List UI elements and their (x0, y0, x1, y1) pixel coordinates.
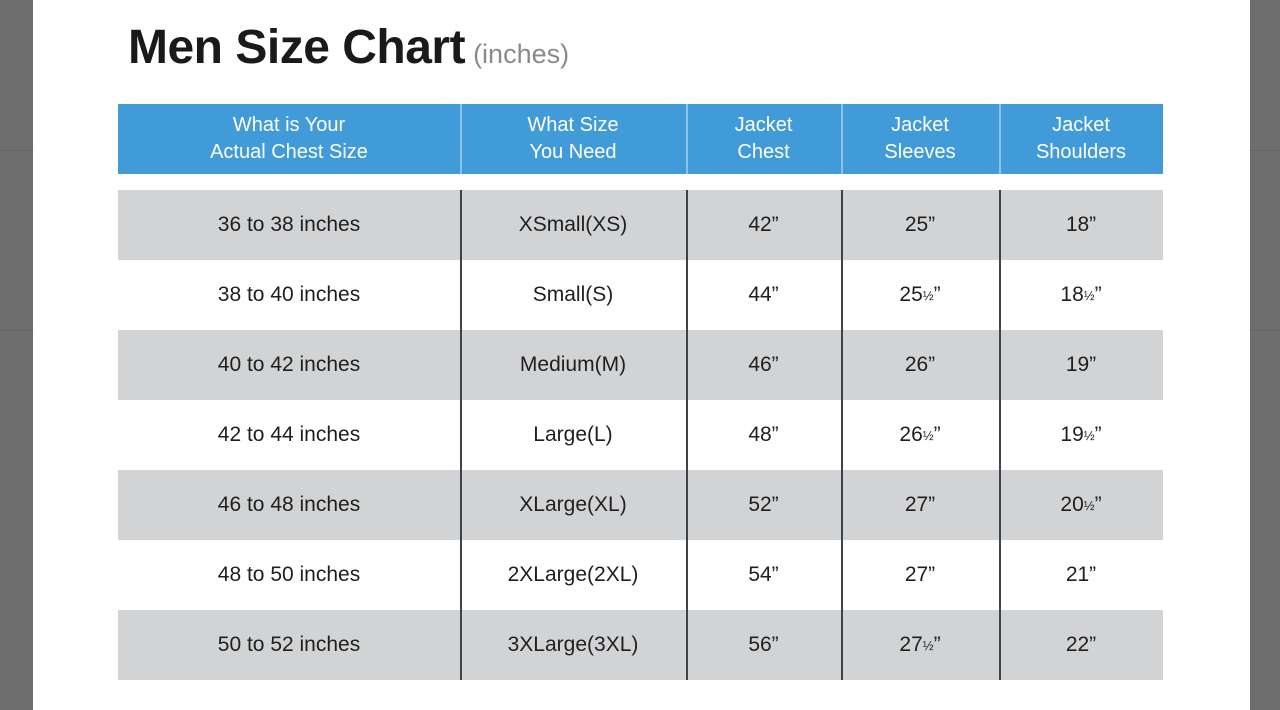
table-row: 36 to 38 inches XSmall(XS) 42” 25” 18” (118, 190, 1163, 260)
letterbox-seam (0, 150, 33, 151)
cell-jacket-chest: 48” (686, 400, 841, 470)
column-header-actual-chest: What is Your Actual Chest Size (118, 104, 460, 174)
table-row: 46 to 48 inches XLarge(XL) 52” 27” 20½” (118, 470, 1163, 540)
cell-size-needed: XSmall(XS) (460, 190, 686, 260)
cell-jacket-sleeves: 27” (841, 540, 999, 610)
cell-size-needed: XLarge(XL) (460, 470, 686, 540)
cell-actual-chest: 40 to 42 inches (118, 330, 460, 400)
page-title-main: Men Size Chart (128, 21, 465, 74)
cell-jacket-chest: 56” (686, 610, 841, 680)
letterbox-seam (0, 330, 33, 331)
cell-actual-chest: 50 to 52 inches (118, 610, 460, 680)
cell-jacket-chest: 44” (686, 260, 841, 330)
cell-jacket-shoulders: 18½” (999, 260, 1163, 330)
slide-stage: Men Size Chart(inches) What is Your Actu… (0, 0, 1280, 710)
letterbox-bar-right (1250, 0, 1280, 710)
column-header-line-1: Jacket (891, 112, 949, 139)
column-header-size-needed: What Size You Need (460, 104, 686, 174)
cell-actual-chest: 36 to 38 inches (118, 190, 460, 260)
column-header-line-1: Jacket (735, 112, 793, 139)
cell-jacket-sleeves: 26” (841, 330, 999, 400)
table-header-row: What is Your Actual Chest Size What Size… (118, 104, 1163, 174)
table-row: 50 to 52 inches 3XLarge(3XL) 56” 27½” 22… (118, 610, 1163, 680)
column-header-line-1: What Size (527, 112, 618, 139)
cell-jacket-chest: 52” (686, 470, 841, 540)
column-header-line-1: What is Your (233, 112, 345, 139)
cell-size-needed: 2XLarge(2XL) (460, 540, 686, 610)
cell-jacket-sleeves: 27½” (841, 610, 999, 680)
cell-jacket-shoulders: 22” (999, 610, 1163, 680)
slide-canvas: Men Size Chart(inches) What is Your Actu… (33, 0, 1250, 710)
letterbox-seam (1250, 330, 1280, 331)
cell-size-needed: Medium(M) (460, 330, 686, 400)
cell-jacket-chest: 46” (686, 330, 841, 400)
column-header-line-2: You Need (529, 139, 616, 166)
cell-jacket-chest: 42” (686, 190, 841, 260)
cell-actual-chest: 42 to 44 inches (118, 400, 460, 470)
cell-jacket-shoulders: 19½” (999, 400, 1163, 470)
cell-actual-chest: 38 to 40 inches (118, 260, 460, 330)
table-body: 36 to 38 inches XSmall(XS) 42” 25” 18” 3… (118, 190, 1163, 680)
cell-size-needed: Small(S) (460, 260, 686, 330)
cell-jacket-sleeves: 27” (841, 470, 999, 540)
cell-jacket-sleeves: 26½” (841, 400, 999, 470)
table-row: 42 to 44 inches Large(L) 48” 26½” 19½” (118, 400, 1163, 470)
cell-jacket-sleeves: 25½” (841, 260, 999, 330)
column-header-line-2: Chest (737, 139, 789, 166)
cell-jacket-sleeves: 25” (841, 190, 999, 260)
cell-jacket-shoulders: 18” (999, 190, 1163, 260)
page-title-unit: (inches) (473, 39, 569, 69)
table-row: 48 to 50 inches 2XLarge(2XL) 54” 27” 21” (118, 540, 1163, 610)
column-header-jacket-sleeves: Jacket Sleeves (841, 104, 999, 174)
table-row: 40 to 42 inches Medium(M) 46” 26” 19” (118, 330, 1163, 400)
column-header-line-2: Sleeves (884, 139, 955, 166)
cell-jacket-shoulders: 20½” (999, 470, 1163, 540)
cell-size-needed: 3XLarge(3XL) (460, 610, 686, 680)
column-header-jacket-chest: Jacket Chest (686, 104, 841, 174)
cell-jacket-shoulders: 19” (999, 330, 1163, 400)
cell-actual-chest: 46 to 48 inches (118, 470, 460, 540)
page-title: Men Size Chart(inches) (128, 20, 569, 75)
cell-actual-chest: 48 to 50 inches (118, 540, 460, 610)
cell-jacket-chest: 54” (686, 540, 841, 610)
column-header-line-2: Shoulders (1036, 139, 1126, 166)
cell-size-needed: Large(L) (460, 400, 686, 470)
size-chart-table: What is Your Actual Chest Size What Size… (118, 104, 1163, 680)
letterbox-seam (1250, 150, 1280, 151)
column-header-jacket-shoulders: Jacket Shoulders (999, 104, 1163, 174)
column-header-line-2: Actual Chest Size (210, 139, 368, 166)
cell-jacket-shoulders: 21” (999, 540, 1163, 610)
column-header-line-1: Jacket (1052, 112, 1110, 139)
letterbox-bar-left (0, 0, 33, 710)
table-row: 38 to 40 inches Small(S) 44” 25½” 18½” (118, 260, 1163, 330)
